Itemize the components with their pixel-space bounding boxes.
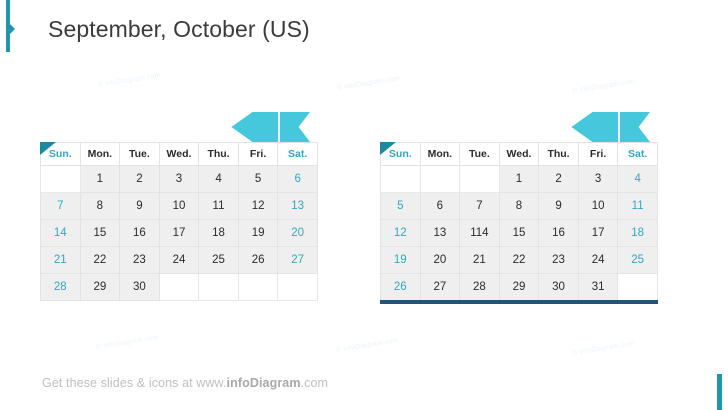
day-cell-empty bbox=[381, 166, 421, 193]
watermark: © infoDiagram.com bbox=[571, 78, 635, 95]
weekday-header: Fri. bbox=[578, 143, 618, 166]
day-cell[interactable]: 19 bbox=[381, 247, 421, 274]
banner-fold-shape bbox=[40, 142, 56, 155]
day-cell[interactable]: 16 bbox=[120, 220, 160, 247]
day-cell[interactable]: 29 bbox=[499, 274, 539, 303]
day-cell[interactable]: 4 bbox=[618, 166, 658, 193]
calendar-header-row: Sun.Mon.Tue.Wed.Thu.Fri.Sat. bbox=[381, 143, 658, 166]
weekday-header: Tue. bbox=[460, 143, 500, 166]
day-cell[interactable]: 20 bbox=[278, 220, 318, 247]
weekday-header: Thu. bbox=[539, 143, 579, 166]
day-cell[interactable]: 21 bbox=[460, 247, 500, 274]
day-cell[interactable]: 10 bbox=[159, 193, 199, 220]
watermark: © infoDiagram.com bbox=[336, 75, 400, 92]
day-cell[interactable]: 15 bbox=[80, 220, 120, 247]
day-cell-empty bbox=[238, 274, 278, 301]
day-cell-empty bbox=[159, 274, 199, 301]
day-cell[interactable]: 5 bbox=[238, 166, 278, 193]
day-cell[interactable]: 24 bbox=[159, 247, 199, 274]
day-cell[interactable]: 14 bbox=[41, 220, 81, 247]
day-cell[interactable]: 24 bbox=[578, 247, 618, 274]
day-cell[interactable]: 8 bbox=[499, 193, 539, 220]
weekday-header: Sat. bbox=[618, 143, 658, 166]
day-cell[interactable]: 25 bbox=[199, 247, 239, 274]
calendar-banner-september: September 2025 bbox=[56, 112, 310, 142]
footer-prefix: Get these slides & icons at www. bbox=[42, 376, 227, 390]
banner-notch-shape bbox=[280, 112, 310, 142]
day-cell[interactable]: 30 bbox=[120, 274, 160, 301]
day-cell[interactable]: 2 bbox=[120, 166, 160, 193]
footer-suffix: .com bbox=[301, 376, 329, 390]
day-cell[interactable]: 21 bbox=[41, 247, 81, 274]
day-cell[interactable]: 16 bbox=[539, 220, 579, 247]
weekday-header: Wed. bbox=[499, 143, 539, 166]
day-cell[interactable]: 17 bbox=[159, 220, 199, 247]
calendar-week-row: 21222324252627 bbox=[41, 247, 318, 274]
day-cell[interactable]: 28 bbox=[41, 274, 81, 301]
day-cell[interactable]: 8 bbox=[80, 193, 120, 220]
day-cell[interactable]: 12 bbox=[381, 220, 421, 247]
weekday-header: Tue. bbox=[120, 143, 160, 166]
calendar-week-row: 282930 bbox=[41, 274, 318, 301]
calendar-table-september: Sun.Mon.Tue.Wed.Thu.Fri.Sat.123456789101… bbox=[40, 142, 318, 301]
footer-brand: infoDiagram bbox=[227, 376, 301, 390]
day-cell[interactable]: 31 bbox=[578, 274, 618, 303]
day-cell[interactable]: 10 bbox=[578, 193, 618, 220]
calendar-week-row: 567891011 bbox=[381, 193, 658, 220]
watermark: © infoDiagram.com bbox=[571, 340, 635, 357]
calendar-week-row: 262728293031 bbox=[381, 274, 658, 303]
day-cell[interactable]: 114 bbox=[460, 220, 500, 247]
watermark: © infoDiagram.com bbox=[97, 72, 161, 89]
day-cell[interactable]: 22 bbox=[499, 247, 539, 274]
day-cell[interactable]: 11 bbox=[199, 193, 239, 220]
day-cell[interactable]: 1 bbox=[499, 166, 539, 193]
calendar-october: October 2025Sun.Mon.Tue.Wed.Thu.Fri.Sat.… bbox=[380, 112, 650, 304]
day-cell[interactable]: 3 bbox=[159, 166, 199, 193]
calendar-week-row: 1234 bbox=[381, 166, 658, 193]
day-cell[interactable]: 20 bbox=[420, 247, 460, 274]
day-cell[interactable]: 15 bbox=[499, 220, 539, 247]
day-cell[interactable]: 29 bbox=[80, 274, 120, 301]
day-cell[interactable]: 6 bbox=[420, 193, 460, 220]
calendar-week-row: 121311415161718 bbox=[381, 220, 658, 247]
page-title: September, October (US) bbox=[48, 16, 310, 43]
slide-canvas: September, October (US) © infoDiagram.co… bbox=[0, 0, 728, 410]
calendar-week-row: 19202122232425 bbox=[381, 247, 658, 274]
calendar-week-row: 123456 bbox=[41, 166, 318, 193]
day-cell[interactable]: 9 bbox=[539, 193, 579, 220]
day-cell[interactable]: 30 bbox=[539, 274, 579, 303]
day-cell[interactable]: 5 bbox=[381, 193, 421, 220]
calendar-september: September 2025Sun.Mon.Tue.Wed.Thu.Fri.Sa… bbox=[40, 112, 310, 301]
banner-label-october: October 2025 bbox=[396, 112, 618, 142]
accent-arrow-icon bbox=[10, 24, 15, 34]
day-cell[interactable]: 1 bbox=[80, 166, 120, 193]
banner-notch-shape bbox=[620, 112, 650, 142]
day-cell[interactable]: 25 bbox=[618, 247, 658, 274]
calendar-week-row: 78910111213 bbox=[41, 193, 318, 220]
day-cell[interactable]: 27 bbox=[278, 247, 318, 274]
day-cell[interactable]: 6 bbox=[278, 166, 318, 193]
weekday-header: Mon. bbox=[420, 143, 460, 166]
day-cell-empty bbox=[618, 274, 658, 303]
day-cell[interactable]: 11 bbox=[618, 193, 658, 220]
day-cell[interactable]: 28 bbox=[460, 274, 500, 303]
footer-credit: Get these slides & icons at www.infoDiag… bbox=[42, 376, 328, 390]
day-cell[interactable]: 18 bbox=[199, 220, 239, 247]
day-cell-empty bbox=[41, 166, 81, 193]
day-cell[interactable]: 4 bbox=[199, 166, 239, 193]
weekday-header: Mon. bbox=[80, 143, 120, 166]
day-cell[interactable]: 9 bbox=[120, 193, 160, 220]
weekday-header: Thu. bbox=[199, 143, 239, 166]
banner-fold-shape bbox=[380, 142, 396, 155]
day-cell[interactable]: 23 bbox=[539, 247, 579, 274]
day-cell[interactable]: 22 bbox=[80, 247, 120, 274]
day-cell[interactable]: 23 bbox=[120, 247, 160, 274]
day-cell-empty bbox=[199, 274, 239, 301]
weekday-header: Wed. bbox=[159, 143, 199, 166]
day-cell[interactable]: 17 bbox=[578, 220, 618, 247]
weekday-header: Sat. bbox=[278, 143, 318, 166]
calendar-table-october: Sun.Mon.Tue.Wed.Thu.Fri.Sat.123456789101… bbox=[380, 142, 658, 304]
watermark: © infoDiagram.com bbox=[95, 334, 159, 351]
day-cell[interactable]: 7 bbox=[41, 193, 81, 220]
day-cell-empty bbox=[420, 166, 460, 193]
calendar-week-row: 14151617181920 bbox=[41, 220, 318, 247]
watermark: © infoDiagram.com bbox=[335, 337, 399, 354]
day-cell-empty bbox=[460, 166, 500, 193]
calendar-banner-october: October 2025 bbox=[396, 112, 650, 142]
day-cell[interactable]: 13 bbox=[420, 220, 460, 247]
calendar-header-row: Sun.Mon.Tue.Wed.Thu.Fri.Sat. bbox=[41, 143, 318, 166]
day-cell[interactable]: 26 bbox=[381, 274, 421, 303]
day-cell[interactable]: 13 bbox=[278, 193, 318, 220]
day-cell[interactable]: 12 bbox=[238, 193, 278, 220]
day-cell[interactable]: 3 bbox=[578, 166, 618, 193]
banner-label-september: September 2025 bbox=[56, 112, 278, 142]
weekday-header: Fri. bbox=[238, 143, 278, 166]
day-cell-empty bbox=[278, 274, 318, 301]
day-cell[interactable]: 2 bbox=[539, 166, 579, 193]
day-cell[interactable]: 19 bbox=[238, 220, 278, 247]
day-cell[interactable]: 7 bbox=[460, 193, 500, 220]
accent-bar-bottom-right bbox=[717, 374, 722, 410]
day-cell[interactable]: 27 bbox=[420, 274, 460, 303]
day-cell[interactable]: 18 bbox=[618, 220, 658, 247]
day-cell[interactable]: 26 bbox=[238, 247, 278, 274]
